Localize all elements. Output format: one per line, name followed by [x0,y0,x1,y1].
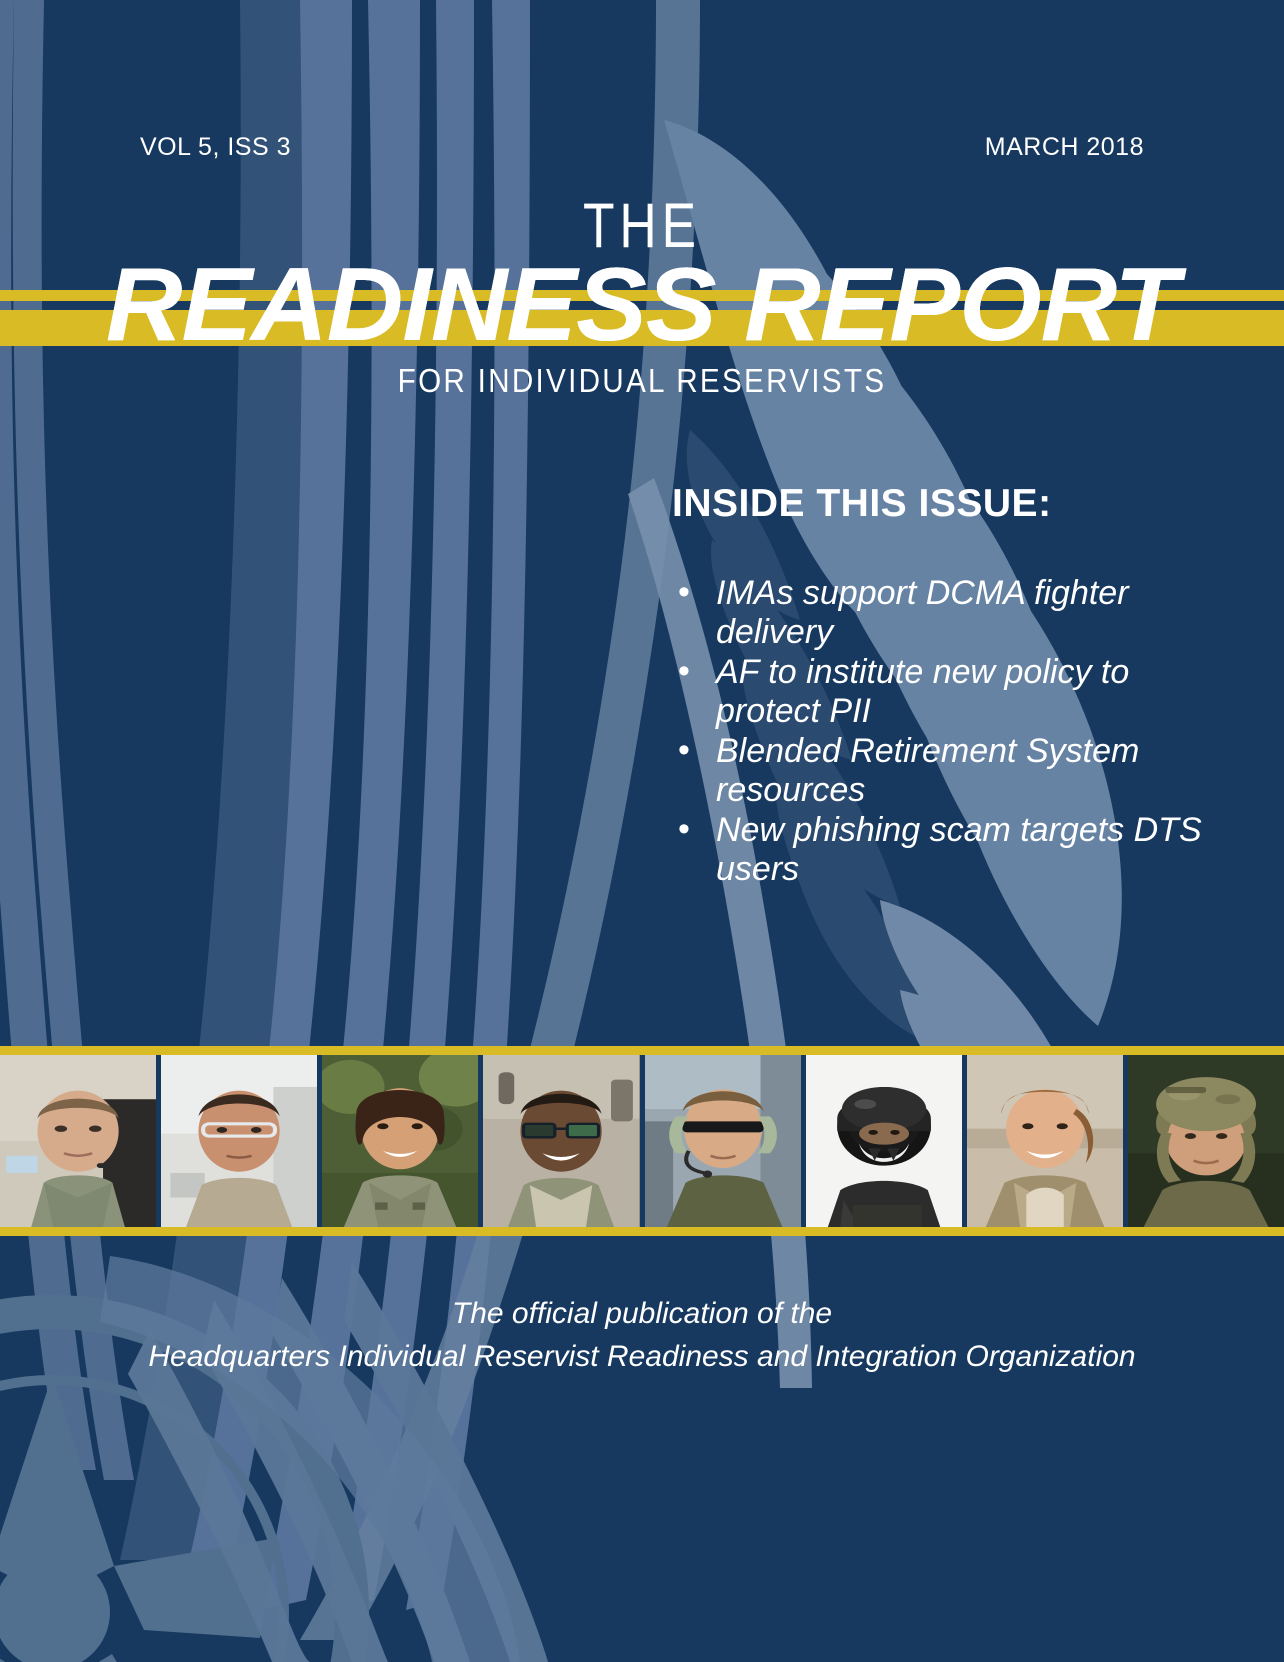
photo-portrait-7 [967,1055,1123,1227]
volume-issue: VOL 5, ISS 3 [140,133,291,162]
photo-portrait-2 [161,1055,317,1227]
issue-date: MARCH 2018 [985,133,1144,162]
bullet-icon: • [678,573,690,612]
bullet-icon: • [678,731,690,770]
list-item: • New phishing scam targets DTS users [660,811,1220,889]
photo-strip-bottom-rule [0,1227,1284,1236]
photo-strip-row [0,1055,1284,1227]
list-item: • Blended Retirement System resources [660,732,1220,810]
magazine-cover: VOL 5, ISS 3 MARCH 2018 THE READINESS RE… [0,0,1284,1662]
photo-strip-top-rule [0,1046,1284,1055]
list-item-label: New phishing scam targets DTS users [716,811,1202,888]
photo-portrait-4 [483,1055,639,1227]
photo-portrait-6 [806,1055,962,1227]
photo-portrait-5 [645,1055,801,1227]
inside-this-issue: INSIDE THIS ISSUE: • IMAs support DCMA f… [660,482,1220,890]
bullet-icon: • [678,810,690,849]
photo-portrait-3 [322,1055,478,1227]
photo-strip [0,1046,1284,1236]
list-item-label: Blended Retirement System resources [716,732,1139,809]
table-of-contents-list: • IMAs support DCMA fighter delivery • A… [660,574,1220,889]
list-item-label: AF to institute new policy to protect PI… [716,653,1129,730]
list-item: • AF to institute new policy to protect … [660,653,1220,731]
list-item-label: IMAs support DCMA fighter delivery [716,574,1129,651]
bullet-icon: • [678,652,690,691]
title-readiness-report: READINESS REPORT [0,253,1284,357]
list-item: • IMAs support DCMA fighter delivery [660,574,1220,652]
photo-portrait-8 [1128,1055,1284,1227]
tagline-line-1: The official publication of the [0,1292,1284,1335]
issue-line: VOL 5, ISS 3 MARCH 2018 [0,133,1284,162]
photo-portrait-1 [0,1055,156,1227]
title-subtitle: FOR INDIVIDUAL RESERVISTS [64,361,1220,401]
tagline-line-2: Headquarters Individual Reservist Readin… [0,1335,1284,1378]
publication-tagline: The official publication of the Headquar… [0,1292,1284,1378]
masthead-title-block: THE READINESS REPORT FOR INDIVIDUAL RESE… [0,195,1284,401]
inside-this-issue-heading: INSIDE THIS ISSUE: [672,482,1220,526]
